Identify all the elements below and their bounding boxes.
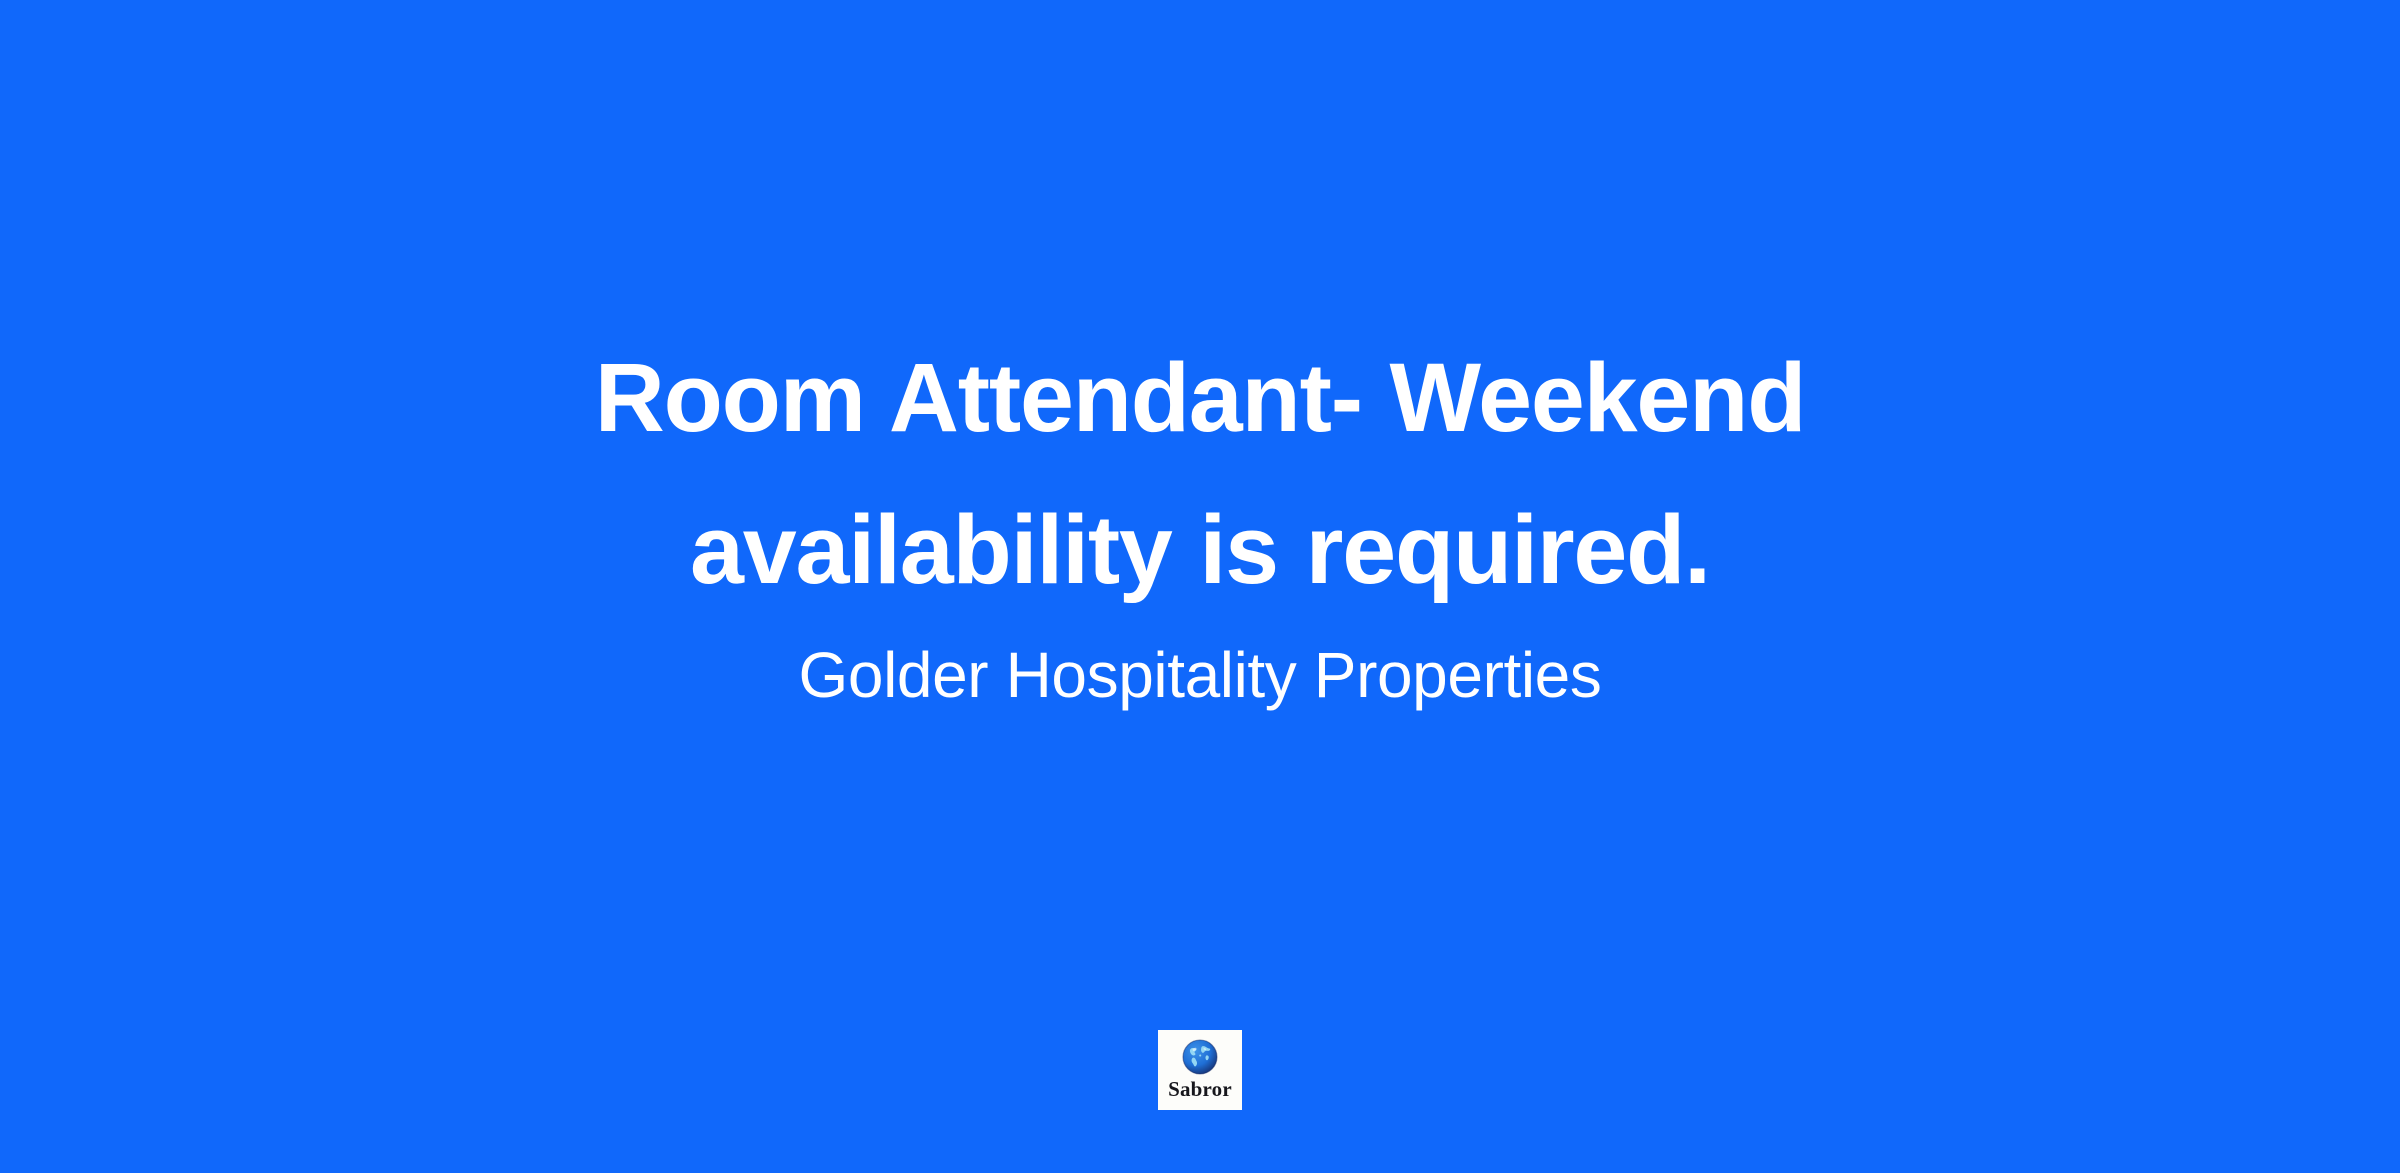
job-posting-banner: Room Attendant- Weekend availability is … — [0, 0, 2400, 1173]
banner-content: Room Attendant- Weekend availability is … — [0, 0, 2400, 1173]
sabror-logo[interactable]: Sabror — [1158, 1030, 1242, 1110]
globe-icon — [1180, 1037, 1220, 1077]
logo-wordmark: Sabror — [1168, 1078, 1232, 1101]
page-title: Room Attendant- Weekend availability is … — [420, 322, 1980, 626]
company-name: Golder Hospitality Properties — [350, 636, 2050, 714]
